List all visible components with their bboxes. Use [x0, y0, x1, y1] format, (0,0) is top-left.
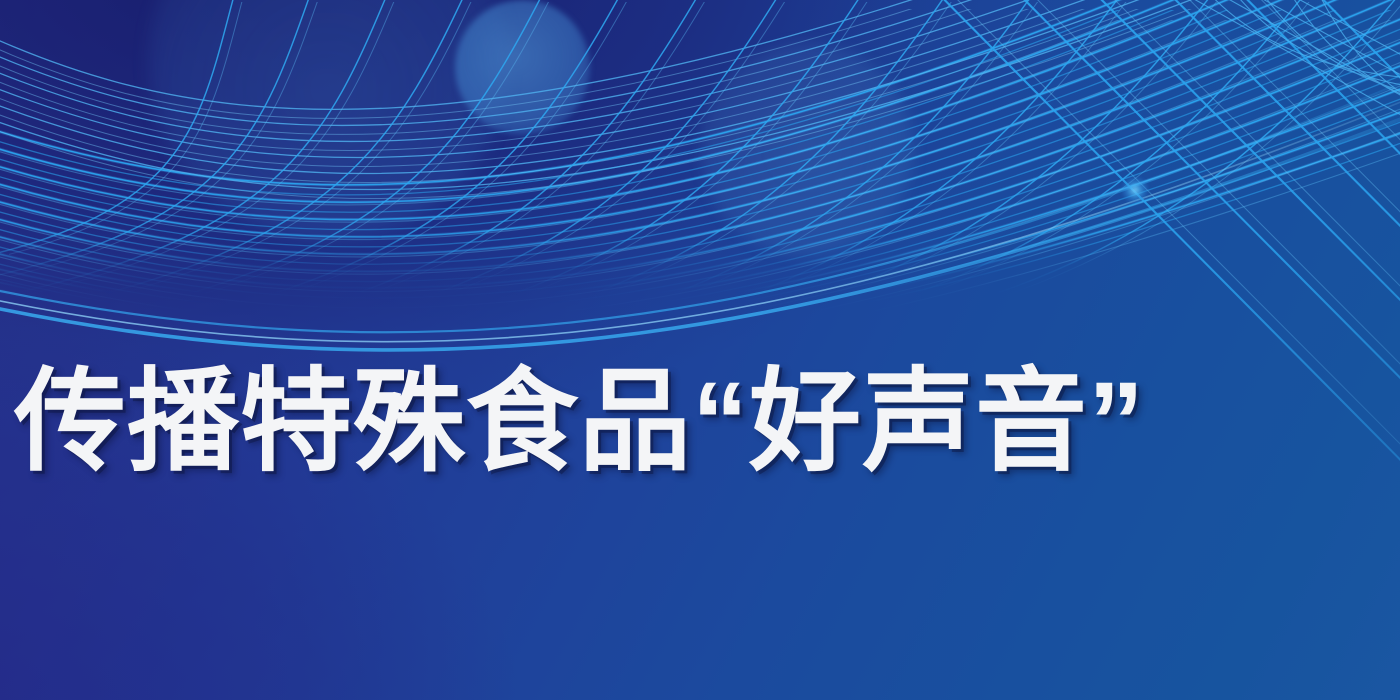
- banner-root: 传播特殊食品“好声音”: [0, 0, 1400, 700]
- glow-dot-icon: [1122, 177, 1148, 203]
- page-title: 传播特殊食品“好声音”: [14, 347, 1400, 497]
- bokeh-circle-large-icon: [148, 0, 508, 240]
- bokeh-circle-dim-icon: [700, 42, 915, 257]
- bokeh-circle-bright-icon: [455, 0, 590, 135]
